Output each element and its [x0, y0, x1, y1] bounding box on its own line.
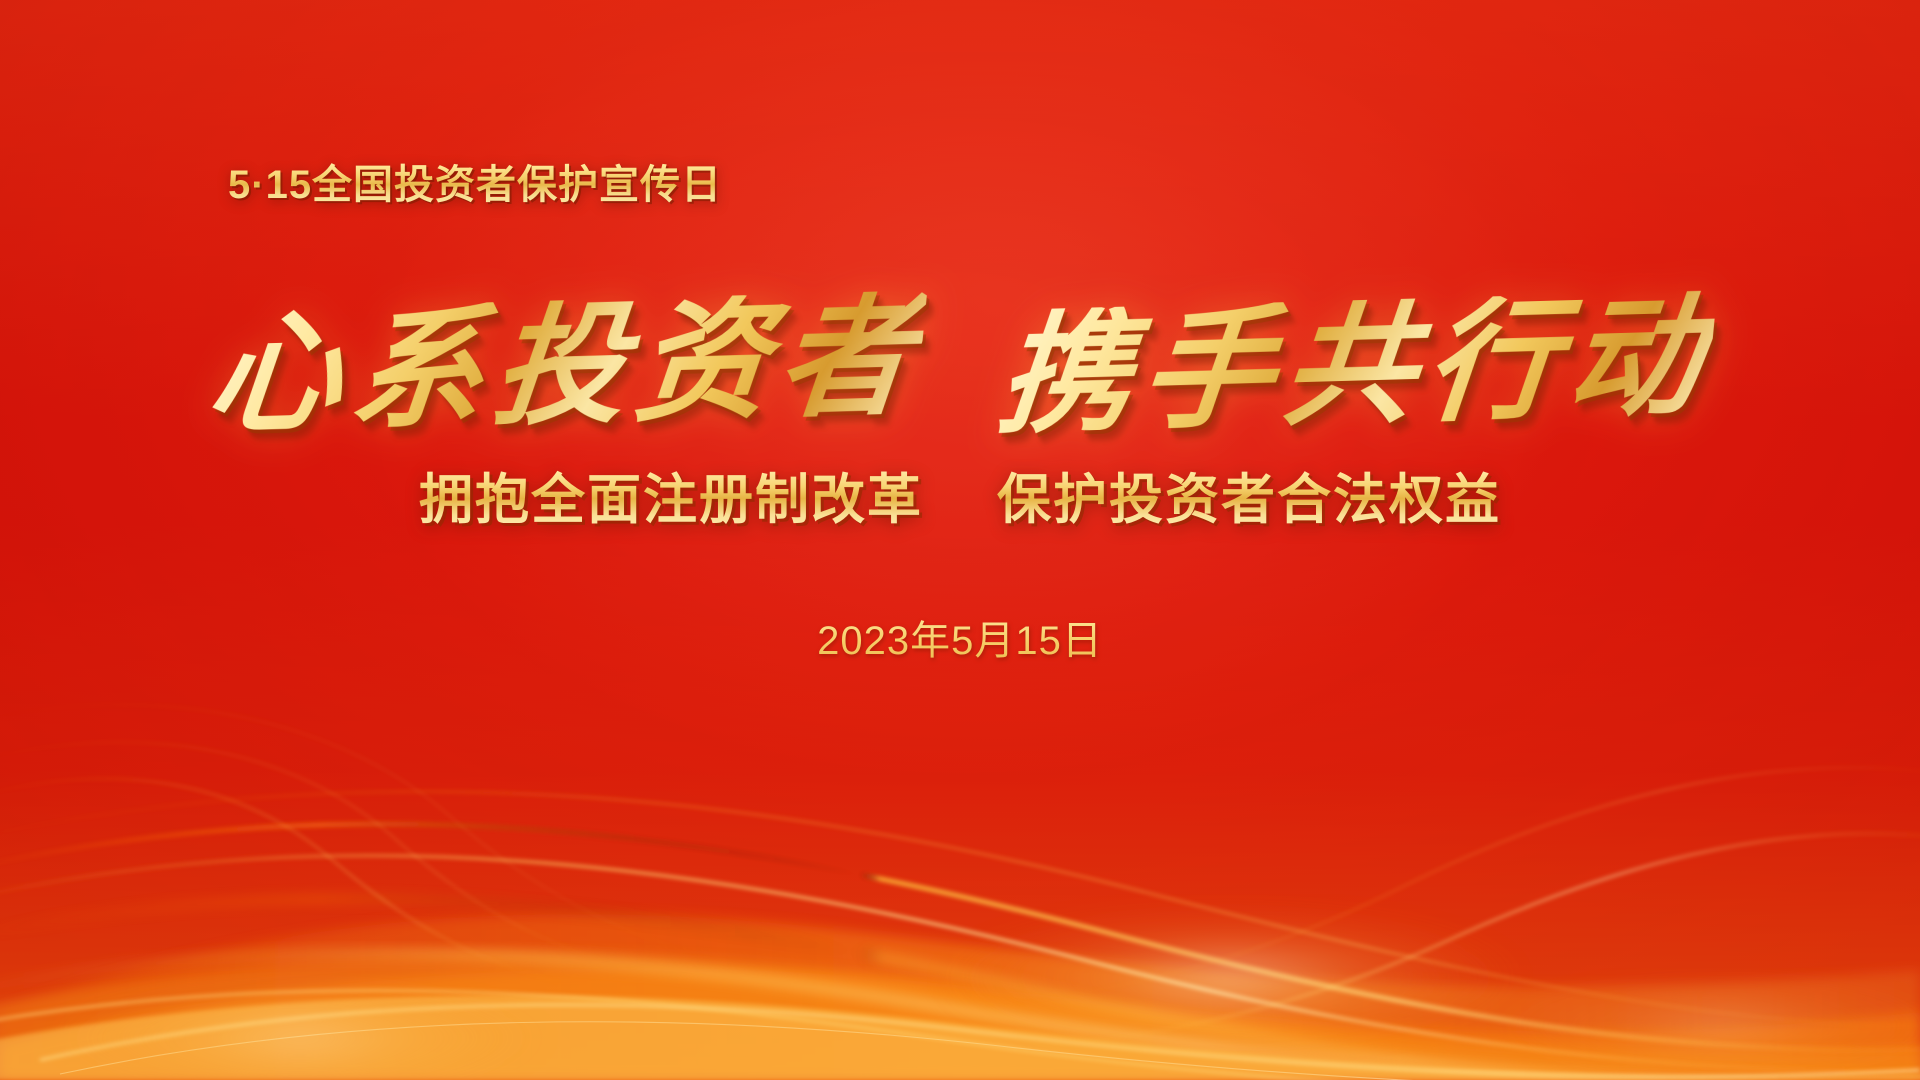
poster-canvas: 5·15全国投资者保护宣传日 心系投资者 携手共行动 拥抱全面注册制改革 保护投… [0, 0, 1920, 1080]
campaign-day-label: 5·15全国投资者保护宣传日 [228, 152, 722, 210]
subtitle-part-1: 拥抱全面注册制改革 [419, 470, 923, 530]
headline-part-2: 携手共行动 [993, 290, 1718, 442]
headline-part-1: 心系投资者 [202, 290, 927, 442]
page-title: 心系投资者 携手共行动 [0, 300, 1920, 432]
poster-content: 5·15全国投资者保护宣传日 心系投资者 携手共行动 拥抱全面注册制改革 保护投… [0, 0, 1920, 1080]
event-date: 2023年5月15日 [0, 608, 1920, 666]
poster-subtitle: 拥抱全面注册制改革 保护投资者合法权益 [0, 455, 1920, 534]
subtitle-part-2: 保护投资者合法权益 [997, 470, 1501, 530]
